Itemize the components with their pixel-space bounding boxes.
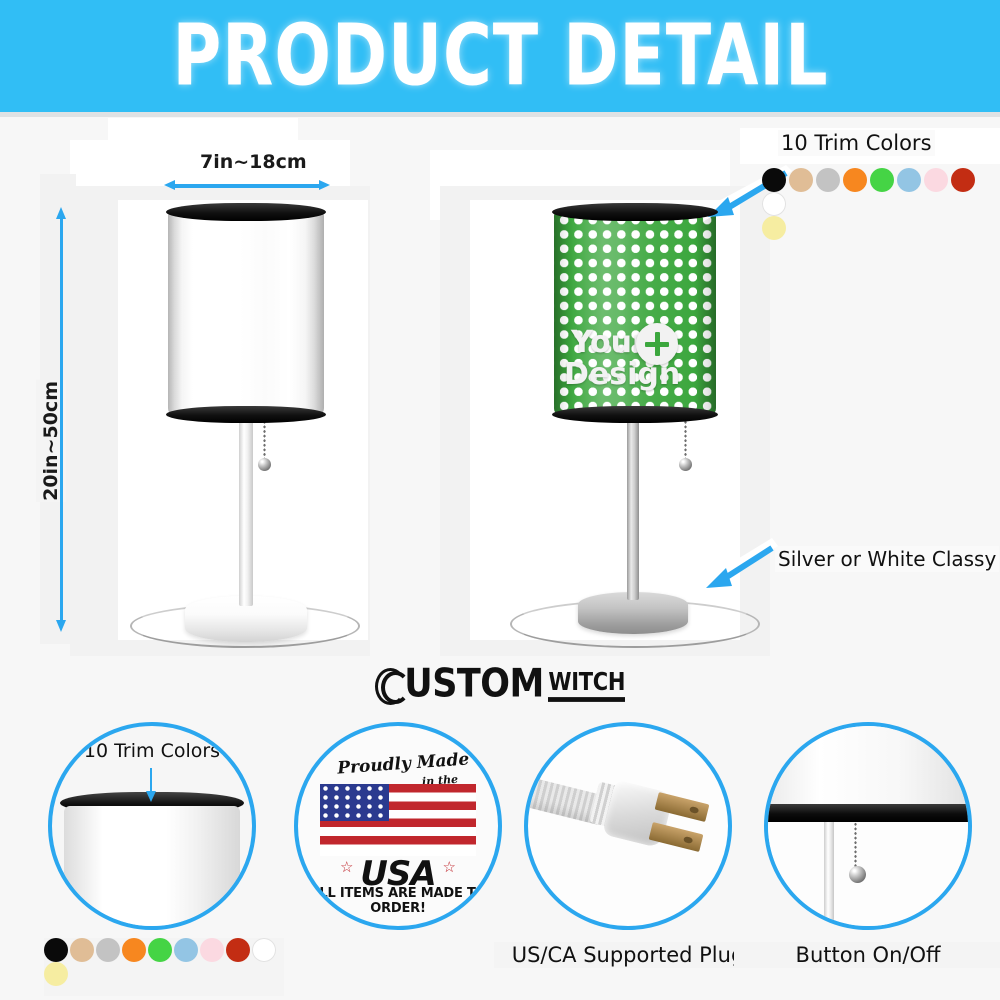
trim-swatch-yellow[interactable]	[44, 962, 68, 986]
pull-chain-ball[interactable]	[679, 458, 692, 471]
trim-swatch-red[interactable]	[226, 938, 250, 962]
flag-canton	[320, 784, 389, 821]
shade-surface	[168, 210, 324, 414]
shade-top-trim	[166, 203, 326, 221]
trim-color-swatch-row-bottom	[44, 938, 284, 996]
trim-swatch-gray[interactable]	[816, 168, 840, 192]
base-finish-callout-label: Silver or White Classy	[775, 546, 999, 572]
feature-circle: Proudly Made in the ☆ ☆ USA ALL ITEMS AR…	[294, 722, 502, 930]
trim-swatch-tan[interactable]	[70, 938, 94, 962]
feature-caption: Button On/Off	[734, 942, 1000, 968]
lamp-shade-closeup	[64, 806, 240, 930]
feature-circle	[524, 722, 732, 930]
trim-swatch-light-blue[interactable]	[174, 938, 198, 962]
pull-chain-ball[interactable]	[849, 866, 866, 883]
trim-color-swatch-row-top	[762, 168, 1000, 226]
header-divider	[0, 112, 1000, 117]
trim-swatch-pink[interactable]	[924, 168, 948, 192]
lamp-shade	[168, 210, 324, 414]
feature-circle	[764, 722, 972, 930]
usa-badge-subtitle: ALL ITEMS ARE MADE TO ORDER!	[298, 886, 498, 916]
shade-bottom-trim	[764, 804, 972, 822]
plug-prong	[649, 822, 704, 852]
brand-logo: USTOM WITCH	[0, 664, 1000, 705]
trim-swatch-yellow[interactable]	[762, 216, 786, 240]
closeup-background	[768, 822, 968, 926]
down-arrow-icon	[146, 768, 156, 802]
trim-swatch-orange[interactable]	[843, 168, 867, 192]
lamp-shade: Your Design	[554, 210, 716, 414]
brand-name-secondary: WITCH	[548, 667, 625, 702]
trim-swatch-orange[interactable]	[122, 938, 146, 962]
trim-swatch-white[interactable]	[252, 938, 276, 962]
trim-swatch-light-blue[interactable]	[897, 168, 921, 192]
trim-swatch-white[interactable]	[762, 192, 786, 216]
trim-swatch-red[interactable]	[951, 168, 975, 192]
feature-caption: US/CA Supported Plug	[494, 942, 762, 968]
trim-swatch-green[interactable]	[870, 168, 894, 192]
lamp-pole	[239, 420, 253, 606]
pull-chain-ball[interactable]	[258, 458, 271, 471]
feature-circle: 10 Trim Colors	[48, 722, 256, 930]
lamp-pole	[824, 822, 834, 926]
brand-name-primary: USTOM	[404, 662, 544, 707]
trim-swatch-black[interactable]	[762, 168, 786, 192]
header-banner: PRODUCT DETAIL	[0, 0, 1000, 112]
trim-colors-inner-label: 10 Trim Colors	[81, 740, 223, 762]
design-placeholder-line2: Design	[564, 360, 680, 389]
c-monogram-icon	[375, 667, 403, 701]
page-title: PRODUCT DETAIL	[172, 7, 828, 105]
trim-swatch-pink[interactable]	[200, 938, 224, 962]
width-dimension-label: 7in~18cm	[196, 150, 311, 174]
width-dimension-arrow	[164, 180, 330, 190]
trim-swatch-green[interactable]	[148, 938, 172, 962]
usa-badge: Proudly Made in the ☆ ☆ USA ALL ITEMS AR…	[298, 726, 498, 926]
plus-icon	[636, 323, 678, 365]
trim-colors-callout-label: 10 Trim Colors	[778, 130, 935, 156]
pull-chain[interactable]	[854, 822, 857, 870]
base-finish-callout-arrow	[700, 538, 780, 598]
shade-bottom-trim	[166, 406, 326, 423]
trim-swatch-black[interactable]	[44, 938, 68, 962]
shade-bottom-trim	[552, 406, 718, 423]
lamp-shade-closeup	[764, 722, 972, 810]
lamp-pole	[627, 420, 639, 600]
trim-swatch-tan[interactable]	[789, 168, 813, 192]
shade-top-trim	[552, 203, 718, 221]
usa-map-flag-icon	[320, 784, 476, 856]
height-dimension-arrow	[56, 207, 66, 632]
trim-swatch-gray[interactable]	[96, 938, 120, 962]
